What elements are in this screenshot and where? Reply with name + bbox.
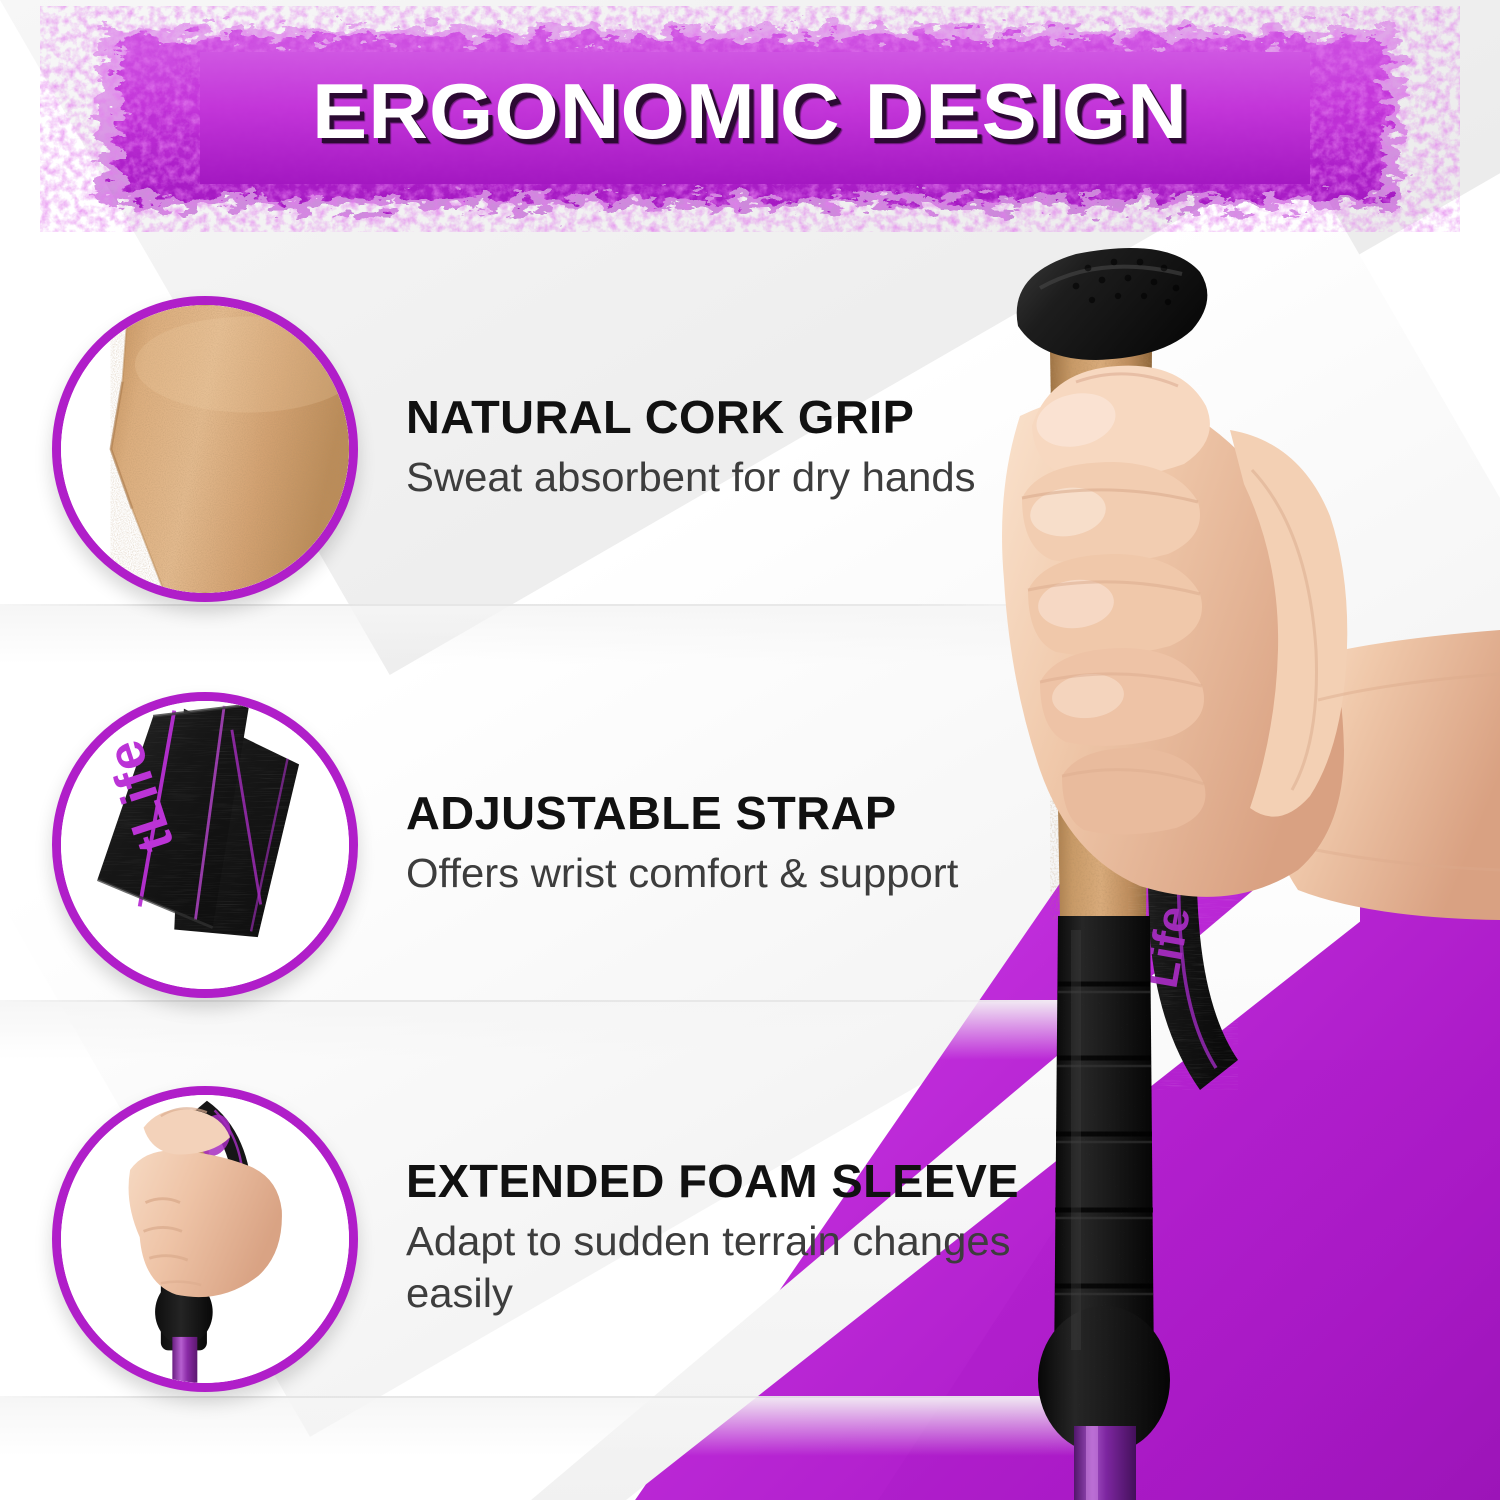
cork-grip-image [61, 305, 349, 593]
purple-aluminum-shaft [1074, 1426, 1136, 1500]
feature-subtitle-3: Adapt to sudden terrain changes easily [406, 1216, 1079, 1319]
feature-row-adjustable-strap: tLife ADJUSTABLE STRAP Offers wrist comf… [52, 692, 948, 998]
page-title: ERGONOMIC DESIGN [0, 66, 1500, 157]
rubber-top-cap [1017, 248, 1208, 360]
feature-text-block-1: NATURAL CORK GRIP Sweat absorbent for dr… [406, 394, 964, 503]
feature-subtitle-1: Sweat absorbent for dry hands [406, 452, 976, 504]
strap-image: tLife [61, 701, 349, 989]
feature-text-block-3: EXTENDED FOAM SLEEVE Adapt to sudden ter… [406, 1158, 1066, 1319]
feature-row-extended-foam-sleeve: EXTENDED FOAM SLEEVE Adapt to sudden ter… [52, 1086, 1066, 1392]
feature-row-natural-cork-grip: NATURAL CORK GRIP Sweat absorbent for dr… [52, 296, 964, 602]
hand [1002, 366, 1500, 920]
feature-text-block-2: ADJUSTABLE STRAP Offers wrist comfort & … [406, 790, 948, 899]
thumbnail-cork-grip[interactable] [52, 296, 358, 602]
feature-title-1: NATURAL CORK GRIP [406, 394, 976, 442]
header-banner: ERGONOMIC DESIGN [0, 0, 1500, 250]
feature-title-3: EXTENDED FOAM SLEEVE [406, 1158, 1079, 1206]
feature-title-2: ADJUSTABLE STRAP [406, 790, 958, 838]
hand-on-foam-sleeve-image [61, 1095, 349, 1383]
thumbnail-adjustable-strap[interactable]: tLife [52, 692, 358, 998]
feature-subtitle-2: Offers wrist comfort & support [406, 848, 958, 900]
infographic-canvas: ERGONOMIC DESIGN [0, 0, 1500, 1500]
thumbnail-foam-sleeve[interactable] [52, 1086, 358, 1392]
